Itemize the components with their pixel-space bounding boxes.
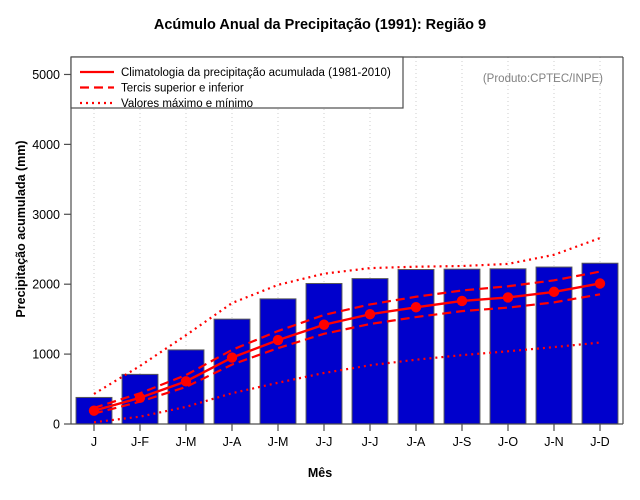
climatology-point [227, 352, 237, 362]
climatology-point [365, 309, 375, 319]
climatology-point [595, 278, 605, 288]
climatology-point [181, 376, 191, 386]
y-tick-label: 2000 [32, 278, 60, 292]
x-tick-label: J-S [453, 435, 472, 449]
bar-jj [352, 279, 388, 424]
x-tick-label: J [91, 435, 97, 449]
climatology-point [457, 296, 467, 306]
x-tick-label: J-J [362, 435, 379, 449]
bar-series [76, 263, 618, 424]
x-tick-label: J-A [223, 435, 242, 449]
x-tick-label: J-J [316, 435, 333, 449]
x-tick-label: J-M [176, 435, 197, 449]
legend-label: Tercis superior e inferior [121, 83, 244, 95]
x-tick-label: J-D [590, 435, 609, 449]
climatology-point [503, 292, 513, 302]
legend-label: Valores máximo e mínimo [121, 98, 253, 110]
x-tick-label: J-A [407, 435, 426, 449]
climatology-point [89, 406, 99, 416]
y-tick-label: 4000 [32, 138, 60, 152]
x-tick-label: J-F [131, 435, 149, 449]
climatology-point [135, 393, 145, 403]
legend-label: Climatologia da precipitação acumulada (… [121, 67, 391, 79]
x-axis-ticks: JJ-FJ-MJ-AJ-MJ-JJ-JJ-AJ-SJ-OJ-NJ-D [91, 424, 610, 449]
chart-container: Acúmulo Anual da Precipitação (1991): Re… [0, 0, 640, 500]
climatology-points [89, 278, 605, 416]
climatology-point [411, 302, 421, 312]
bar-jj [306, 283, 342, 424]
climatology-point [549, 287, 559, 297]
x-tick-label: J-N [544, 435, 563, 449]
precipitation-chart-svg: 010002000300040005000JJ-FJ-MJ-AJ-MJ-JJ-J… [0, 0, 640, 500]
chart-legend: Climatologia da precipitação acumulada (… [71, 57, 403, 110]
y-axis-ticks: 010002000300040005000 [32, 68, 71, 432]
climatology-point [273, 335, 283, 345]
x-tick-label: J-M [268, 435, 289, 449]
y-tick-label: 1000 [32, 348, 60, 362]
bar-jo [490, 269, 526, 424]
y-tick-label: 0 [53, 418, 60, 432]
x-tick-label: J-O [498, 435, 518, 449]
y-tick-label: 3000 [32, 208, 60, 222]
y-tick-label: 5000 [32, 68, 60, 82]
bar-jm [260, 299, 296, 424]
bar-ja [398, 270, 434, 424]
bar-js [444, 269, 480, 424]
product-credit-label: (Produto:CPTEC/INPE) [483, 73, 603, 85]
climatology-point [319, 320, 329, 330]
